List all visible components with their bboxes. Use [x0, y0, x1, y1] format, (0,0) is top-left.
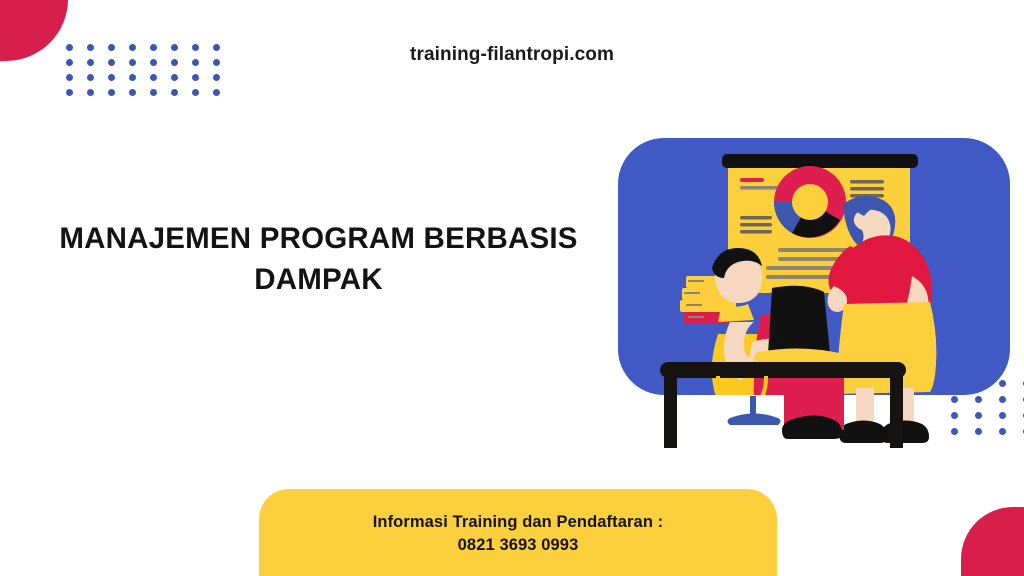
decorative-dot [171, 74, 178, 81]
decorative-dot [171, 89, 178, 96]
decorative-dot [150, 74, 157, 81]
flyer-canvas: training-filantropi.com MANAJEMEN PROGRA… [0, 0, 1024, 576]
training-workshop-illustration [600, 120, 1024, 450]
decorative-dot [129, 74, 136, 81]
desk-top [660, 362, 906, 378]
decorative-dot [129, 89, 136, 96]
standing-presenter-skirt [836, 302, 936, 394]
decorative-dot [150, 89, 157, 96]
decorative-dot [213, 89, 220, 96]
cta-info-label: Informasi Training dan Pendaftaran : [259, 511, 777, 534]
donut-chart [774, 166, 846, 238]
cta-banner: Informasi Training dan Pendaftaran : 082… [259, 489, 777, 576]
corner-blob-bottom-right [961, 507, 1024, 576]
board-top-bar [722, 154, 918, 168]
decorative-dot [213, 74, 220, 81]
decorative-dot [192, 89, 199, 96]
decorative-dot [192, 74, 199, 81]
decorative-dot [66, 89, 73, 96]
page-title-line-1: MANAJEMEN PROGRAM BERBASIS [59, 222, 577, 255]
site-url-text: training-filantropi.com [0, 44, 1024, 66]
cta-phone-number[interactable]: 0821 3693 0993 [259, 534, 777, 557]
decorative-dot [108, 89, 115, 96]
page-title: MANAJEMEN PROGRAM BERBASIS DAMPAK [46, 218, 591, 300]
decorative-dot [66, 74, 73, 81]
decorative-dot [108, 74, 115, 81]
decorative-dot [87, 74, 94, 81]
page-title-line-2: DAMPAK [254, 263, 382, 296]
decorative-dot [87, 89, 94, 96]
